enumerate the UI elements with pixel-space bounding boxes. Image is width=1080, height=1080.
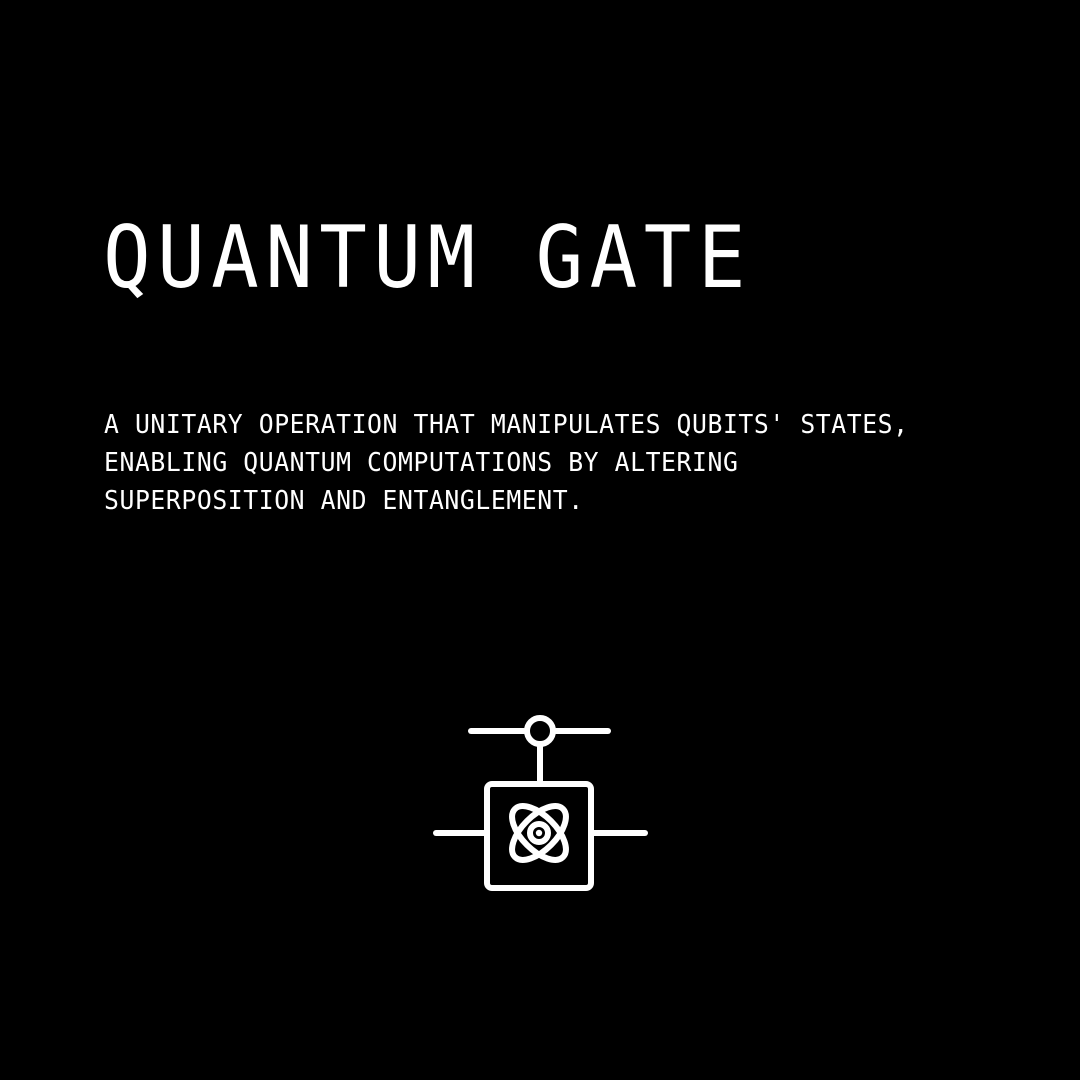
control-qubit-circle bbox=[527, 718, 553, 744]
atom-nucleus-dot bbox=[536, 830, 542, 836]
quantum-gate-circuit-icon bbox=[420, 695, 660, 910]
description-line: A UNITARY OPERATION THAT MANIPULATES QUB… bbox=[104, 406, 977, 444]
quantum-gate-card: QUANTUM GATE A UNITARY OPERATION THAT MA… bbox=[0, 0, 1080, 1080]
page-title: QUANTUM GATE bbox=[103, 210, 752, 306]
atom-symbol bbox=[503, 797, 575, 869]
description-line: ENABLING QUANTUM COMPUTATIONS BY ALTERIN… bbox=[104, 444, 977, 482]
quantum-gate-icon-svg bbox=[420, 695, 660, 910]
description-text: A UNITARY OPERATION THAT MANIPULATES QUB… bbox=[104, 406, 977, 520]
description-line: SUPERPOSITION AND ENTANGLEMENT. bbox=[104, 482, 977, 520]
